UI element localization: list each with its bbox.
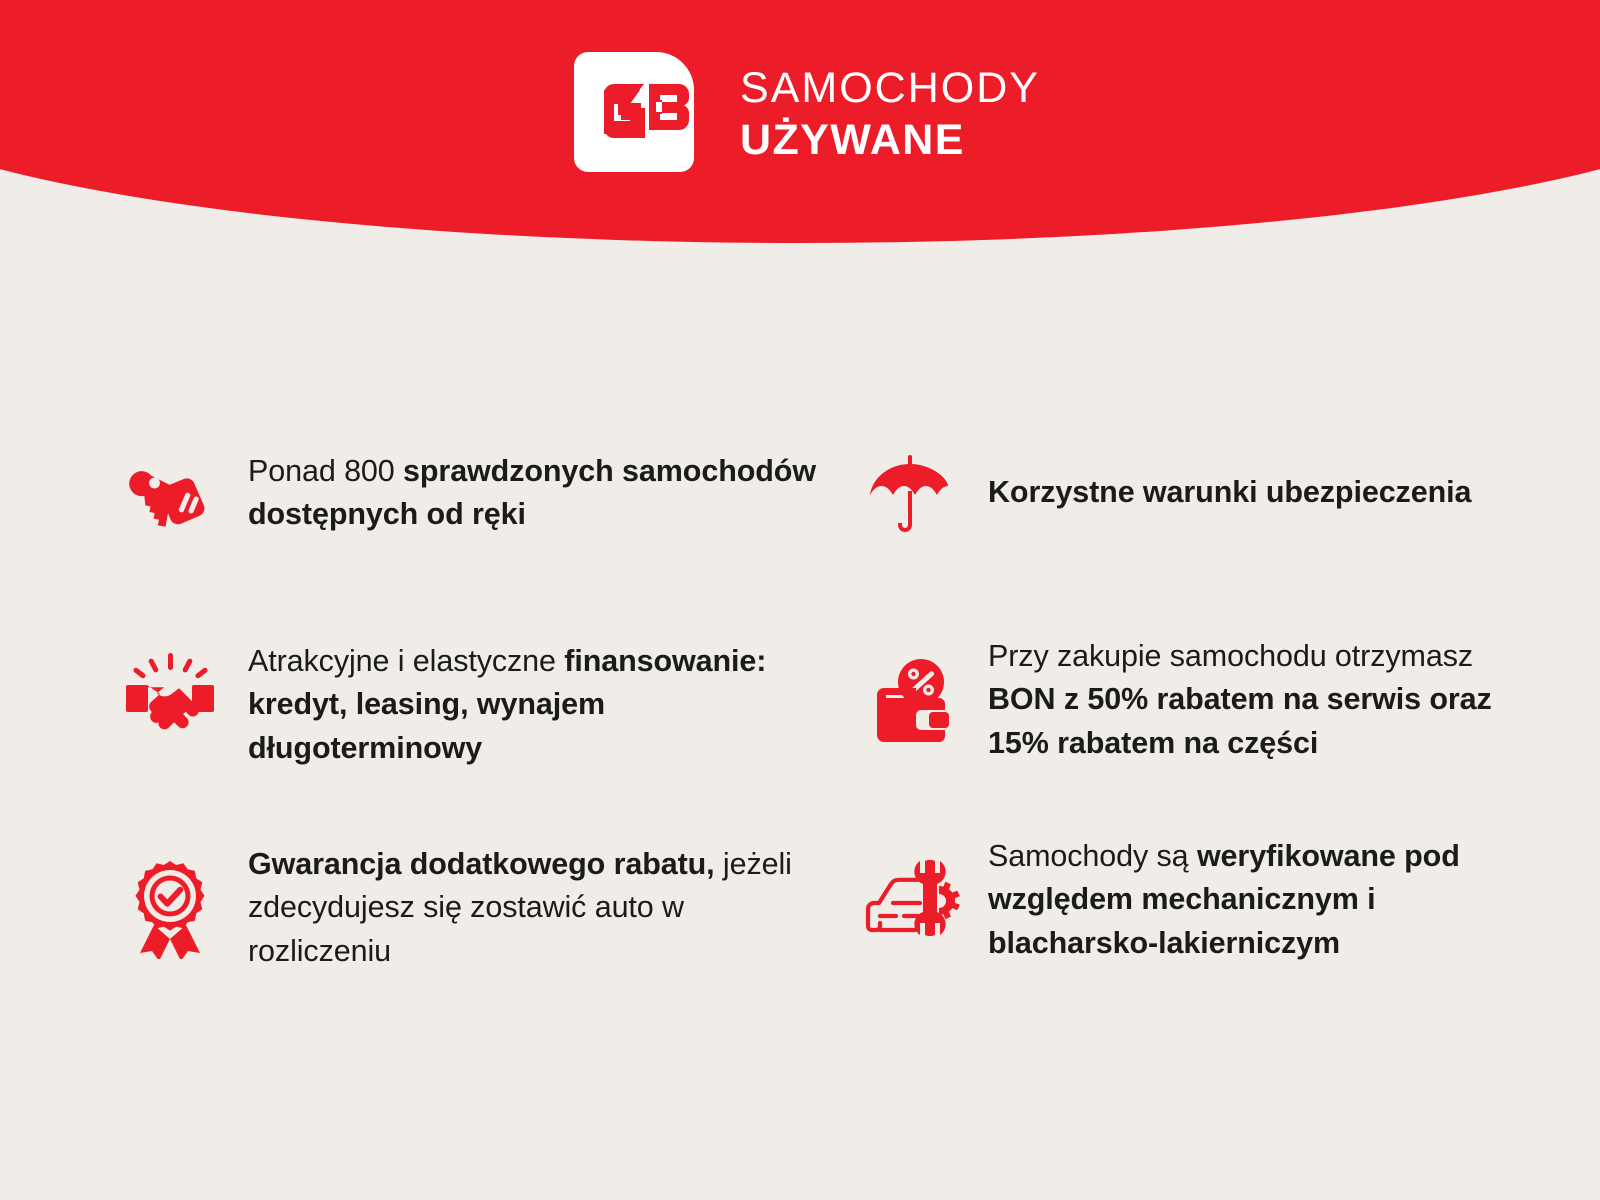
feature-grid: Ponad 800 sprawdzonych samochodów dostęp… bbox=[118, 445, 1518, 1025]
feature-text: Przy zakupie samochodu otrzymasz BON z 5… bbox=[988, 635, 1518, 765]
feature-lead: Samochody są bbox=[988, 839, 1197, 873]
award-badge-icon bbox=[118, 859, 222, 959]
brand-lockup: SAMOCHODY UŻYWANE bbox=[0, 38, 1600, 186]
feature-strong: BON z 50% rabatem na serwis oraz 15% rab… bbox=[988, 682, 1492, 759]
car-wrench-gear-icon bbox=[858, 853, 962, 943]
infographic-page: SAMOCHODY UŻYWANE Pon bbox=[0, 0, 1600, 1200]
feature-item: Gwarancja dodatkowego rabatu, jeżeli zde… bbox=[118, 835, 818, 1025]
umbrella-icon bbox=[858, 451, 962, 543]
feature-item: Samochody są weryfikowane pod względem m… bbox=[858, 835, 1518, 1025]
feature-item: Korzystne warunki ubezpieczenia bbox=[858, 445, 1518, 635]
feature-text: Samochody są weryfikowane pod względem m… bbox=[988, 835, 1518, 965]
feature-lead: Atrakcyjne i elastyczne bbox=[248, 644, 564, 678]
feature-strong: Korzystne warunki ubezpieczenia bbox=[988, 475, 1471, 509]
feature-text: Ponad 800 sprawdzonych samochodów dostęp… bbox=[248, 445, 818, 537]
feature-item: Przy zakupie samochodu otrzymasz BON z 5… bbox=[858, 635, 1518, 835]
feature-strong: Gwarancja dodatkowego rabatu, bbox=[248, 847, 715, 881]
feature-lead: Przy zakupie samochodu otrzymasz bbox=[988, 639, 1473, 673]
brand-line-uzywane: UŻYWANE bbox=[740, 119, 1040, 162]
keys-icon bbox=[118, 461, 222, 547]
feature-item: Atrakcyjne i elastyczne finansowanie: kr… bbox=[118, 635, 818, 835]
feature-text: Korzystne warunki ubezpieczenia bbox=[988, 445, 1471, 514]
brand-wordmark: SAMOCHODY UŻYWANE bbox=[740, 63, 1040, 162]
wallet-percent-icon bbox=[858, 655, 962, 747]
gb-logo-icon bbox=[560, 38, 708, 186]
feature-lead: Ponad 800 bbox=[248, 454, 403, 488]
feature-text: Gwarancja dodatkowego rabatu, jeżeli zde… bbox=[248, 835, 818, 973]
handshake-icon bbox=[118, 651, 222, 737]
feature-text: Atrakcyjne i elastyczne finansowanie: kr… bbox=[248, 635, 818, 770]
brand-line-samochody: SAMOCHODY bbox=[740, 67, 1040, 110]
feature-item: Ponad 800 sprawdzonych samochodów dostęp… bbox=[118, 445, 818, 635]
